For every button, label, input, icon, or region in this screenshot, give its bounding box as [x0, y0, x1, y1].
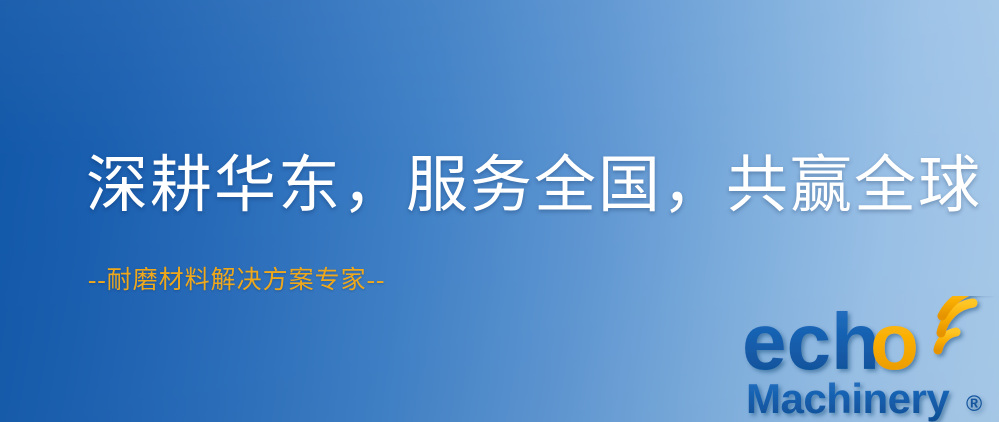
logo-registered-mark: ® — [966, 391, 982, 416]
wifi-arcs-icon — [938, 296, 988, 350]
hero-banner: 深耕华东，服务全国，共赢全球 --耐磨材料解决方案专家-- — [0, 0, 999, 422]
banner-headline: 深耕华东，服务全国，共赢全球 — [86, 155, 982, 217]
banner-subtitle: --耐磨材料解决方案专家-- — [88, 268, 385, 293]
logo-wordmark-ech: ech — [742, 297, 880, 386]
logo-tagline: Machinery — [746, 375, 950, 422]
echo-machinery-logo[interactable]: ech o Machinery ® — [742, 296, 999, 422]
logo-wordmark-o: o — [870, 297, 919, 386]
